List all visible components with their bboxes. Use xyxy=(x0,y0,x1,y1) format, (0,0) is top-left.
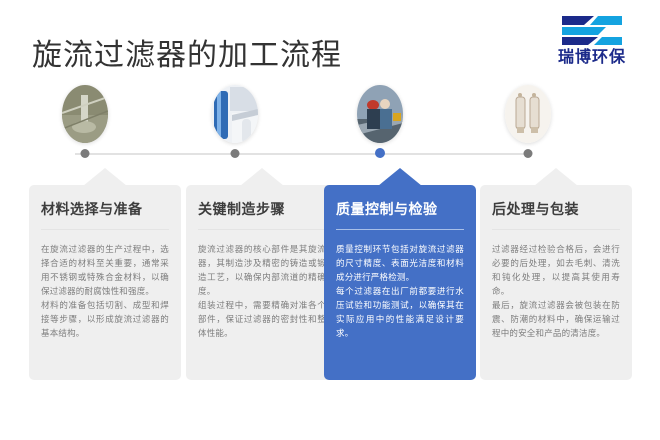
step-card-quality-control[interactable]: 质量控制与检验 质量控制环节包括对旋流过滤器的尺寸精度、表面光洁度和材料成分进行… xyxy=(324,185,476,380)
card-divider xyxy=(41,229,169,230)
machining-equipment-photo-icon xyxy=(62,85,108,143)
card-pointer xyxy=(534,168,578,186)
card-divider xyxy=(492,229,620,230)
timeline-dot-2[interactable] xyxy=(231,149,240,158)
card-paragraph: 旋流过滤器的核心部件是其旋流器，其制造涉及精密的铸造或锻造工艺，以确保内部流道的… xyxy=(198,242,326,298)
packaged-filters-photo-icon xyxy=(505,85,551,143)
card-title: 材料选择与准备 xyxy=(41,199,169,219)
timeline-node-4 xyxy=(448,85,608,165)
company-logo-text: 瑞博环保 xyxy=(540,48,644,68)
card-divider xyxy=(336,229,464,230)
filter-cartridge-photo-icon xyxy=(212,85,258,143)
card-title: 后处理与包装 xyxy=(492,199,620,219)
card-paragraph: 过滤器经过检验合格后，会进行必要的后处理，如去毛刺、清洗和钝化处理，以提高其使用… xyxy=(492,242,620,298)
page-header: 旋流过滤器的加工流程 瑞博环保 xyxy=(0,0,660,92)
card-paragraph: 最后，旋流过滤器会被包装在防震、防潮的材料中，确保运输过程中的安全和产品的清洁度… xyxy=(492,298,620,340)
card-paragraph: 材料的准备包括切割、成型和焊接等步骤，以形成旋流过滤器的基本结构。 xyxy=(41,298,169,340)
page-title: 旋流过滤器的加工流程 xyxy=(32,36,342,76)
card-title: 质量控制与检验 xyxy=(336,199,464,219)
timeline-dot-4[interactable] xyxy=(524,149,533,158)
card-paragraph: 在旋流过滤器的生产过程中，选择合适的材料至关重要，通常采用不锈钢或特殊合金材料，… xyxy=(41,242,169,298)
step-card-post-processing[interactable]: 后处理与包装 过滤器经过检验合格后，会进行必要的后处理，如去毛刺、清洗和钝化处理… xyxy=(480,185,632,380)
card-title: 关键制造步骤 xyxy=(198,199,326,219)
card-body: 旋流过滤器的核心部件是其旋流器，其制造涉及精密的铸造或锻造工艺，以确保内部流道的… xyxy=(198,242,326,340)
card-body: 质量控制环节包括对旋流过滤器的尺寸精度、表面光洁度和材料成分进行严格检测。 每个… xyxy=(336,242,464,340)
card-pointer xyxy=(83,168,127,186)
card-pointer xyxy=(240,168,284,186)
timeline-node-3 xyxy=(300,85,460,165)
company-logo-mark-icon xyxy=(554,14,630,46)
card-paragraph: 质量控制环节包括对旋流过滤器的尺寸精度、表面光洁度和材料成分进行严格检测。 xyxy=(336,242,464,284)
card-divider xyxy=(198,229,326,230)
card-pointer xyxy=(378,168,422,186)
timeline-node-1 xyxy=(5,85,165,165)
card-body: 在旋流过滤器的生产过程中，选择合适的材料至关重要，通常采用不锈钢或特殊合金材料，… xyxy=(41,242,169,340)
step-card-material-selection[interactable]: 材料选择与准备 在旋流过滤器的生产过程中，选择合适的材料至关重要，通常采用不锈钢… xyxy=(29,185,181,380)
step-card-key-manufacturing[interactable]: 关键制造步骤 旋流过滤器的核心部件是其旋流器，其制造涉及精密的铸造或锻造工艺，以… xyxy=(186,185,338,380)
card-paragraph: 组装过程中，需要精确对准各个部件，保证过滤器的密封性和整体性能。 xyxy=(198,298,326,340)
inspection-workers-photo-icon xyxy=(357,85,403,143)
card-body: 过滤器经过检验合格后，会进行必要的后处理，如去毛刺、清洗和钝化处理，以提高其使用… xyxy=(492,242,620,340)
timeline-dot-1[interactable] xyxy=(81,149,90,158)
timeline-node-2 xyxy=(155,85,315,165)
timeline-dot-3[interactable] xyxy=(375,148,385,158)
company-logo: 瑞博环保 xyxy=(540,14,644,76)
card-paragraph: 每个过滤器在出厂前都要进行水压试验和功能测试，以确保其在实际应用中的性能满足设计… xyxy=(336,284,464,340)
